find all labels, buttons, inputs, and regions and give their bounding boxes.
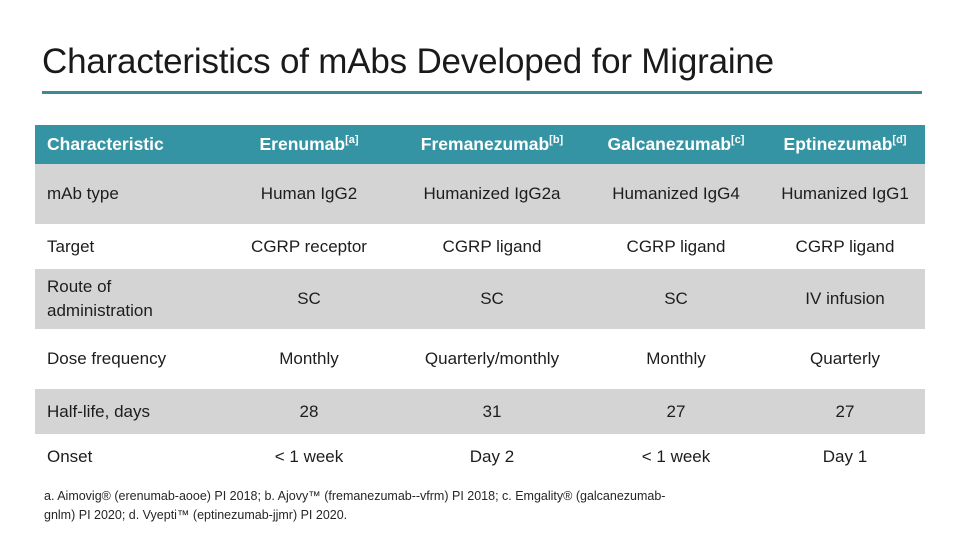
table-cell: 31 [397,389,587,434]
table-row: Route of administration SC SC SC IV infu… [35,269,925,329]
row-label: Dose frequency [35,329,221,389]
column-header-erenumab: Erenumab[a] [221,125,397,164]
characteristics-table-wrap: Characteristic Erenumab[a] Fremanezumab[… [35,125,925,479]
table-cell: Humanized IgG1 [765,164,925,224]
table-cell: 27 [765,389,925,434]
column-header-label: Characteristic [47,134,164,154]
table-cell: SC [397,269,587,329]
table-cell: Humanized IgG2a [397,164,587,224]
column-header-footnote-marker: [b] [549,134,563,146]
title-underline-rule [42,91,922,94]
table-header-row: Characteristic Erenumab[a] Fremanezumab[… [35,125,925,164]
table-row: Onset < 1 week Day 2 < 1 week Day 1 [35,434,925,479]
column-header-characteristic: Characteristic [35,125,221,164]
table-cell: < 1 week [221,434,397,479]
column-header-footnote-marker: [a] [345,134,358,146]
page-title: Characteristics of mAbs Developed for Mi… [42,40,922,84]
table-cell: Monthly [587,329,765,389]
table-cell: Day 2 [397,434,587,479]
table-body: mAb type Human IgG2 Humanized IgG2a Huma… [35,164,925,479]
column-header-fremanezumab: Fremanezumab[b] [397,125,587,164]
table-cell: 28 [221,389,397,434]
column-header-eptinezumab: Eptinezumab[d] [765,125,925,164]
table-cell: SC [587,269,765,329]
table-row: Half-life, days 28 31 27 27 [35,389,925,434]
table-cell: Human IgG2 [221,164,397,224]
table-cell: Quarterly/monthly [397,329,587,389]
table-cell: SC [221,269,397,329]
table-row: Dose frequency Monthly Quarterly/monthly… [35,329,925,389]
column-header-galcanezumab: Galcanezumab[c] [587,125,765,164]
table-cell: CGRP ligand [765,224,925,269]
column-header-label: Erenumab [259,134,345,154]
column-header-label: Eptinezumab [784,134,893,154]
title-block: Characteristics of mAbs Developed for Mi… [42,40,922,94]
table-cell: IV infusion [765,269,925,329]
footnote-block: a. Aimovig® (erenumab-aooe) PI 2018; b. … [44,487,924,525]
column-header-label: Galcanezumab [608,134,732,154]
table-cell: Day 1 [765,434,925,479]
row-label: Target [35,224,221,269]
footnote-line-1: a. Aimovig® (erenumab-aooe) PI 2018; b. … [44,487,924,506]
table-row: Target CGRP receptor CGRP ligand CGRP li… [35,224,925,269]
table-cell: Humanized IgG4 [587,164,765,224]
column-header-footnote-marker: [c] [731,134,744,146]
footnote-line-2: gnlm) PI 2020; d. Vyepti™ (eptinezumab-j… [44,506,924,525]
table-cell: 27 [587,389,765,434]
table-header: Characteristic Erenumab[a] Fremanezumab[… [35,125,925,164]
table-cell: CGRP ligand [397,224,587,269]
slide-root: Characteristics of mAbs Developed for Mi… [0,0,960,540]
row-label: mAb type [35,164,221,224]
column-header-footnote-marker: [d] [892,134,906,146]
table-cell: Quarterly [765,329,925,389]
row-label: Route of administration [35,269,221,329]
table-row: mAb type Human IgG2 Humanized IgG2a Huma… [35,164,925,224]
characteristics-table: Characteristic Erenumab[a] Fremanezumab[… [35,125,925,479]
table-cell: Monthly [221,329,397,389]
table-cell: CGRP receptor [221,224,397,269]
row-label: Onset [35,434,221,479]
table-cell: CGRP ligand [587,224,765,269]
column-header-label: Fremanezumab [421,134,549,154]
table-cell: < 1 week [587,434,765,479]
row-label: Half-life, days [35,389,221,434]
